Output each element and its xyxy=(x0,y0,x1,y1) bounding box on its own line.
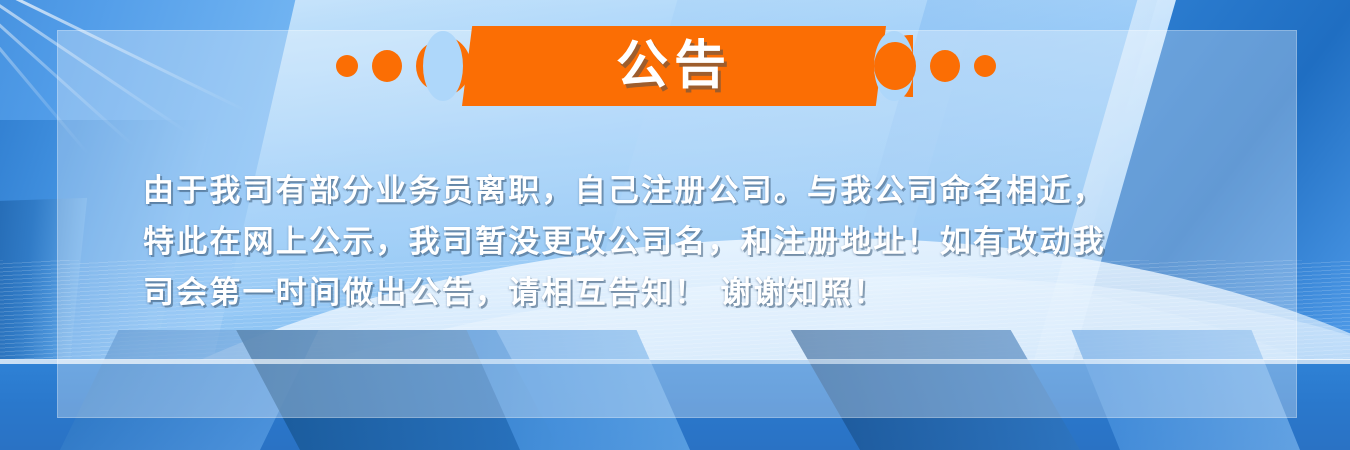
message-line: 由于我司有部分业务员离职，自己注册公司。与我公司命名相近， xyxy=(143,166,1233,217)
message-line: 司会第一时间做出公告，请相互告知！ 谢谢知照！ xyxy=(143,268,1233,319)
announcement-message: 由于我司有部分业务员离职，自己注册公司。与我公司命名相近， 特此在网上公示，我司… xyxy=(143,166,1233,319)
banner-header: 公告 xyxy=(0,26,1350,106)
announcement-banner: 公告 由于我司有部分业务员离职，自己注册公司。与我公司命名相近， 特此在网上公示… xyxy=(0,0,1350,450)
page-title: 公告 xyxy=(462,26,886,106)
large-dot-icon xyxy=(874,42,916,90)
message-line: 特此在网上公示，我司暂没更改公司名，和注册地址！如有改动我 xyxy=(143,217,1233,268)
decorative-dots-right xyxy=(874,26,996,106)
medium-dot-icon xyxy=(372,50,402,82)
small-dot-icon xyxy=(336,55,358,77)
medium-dot-icon xyxy=(930,50,960,82)
small-dot-icon xyxy=(974,55,996,77)
crescent-left-cutout xyxy=(423,31,463,101)
